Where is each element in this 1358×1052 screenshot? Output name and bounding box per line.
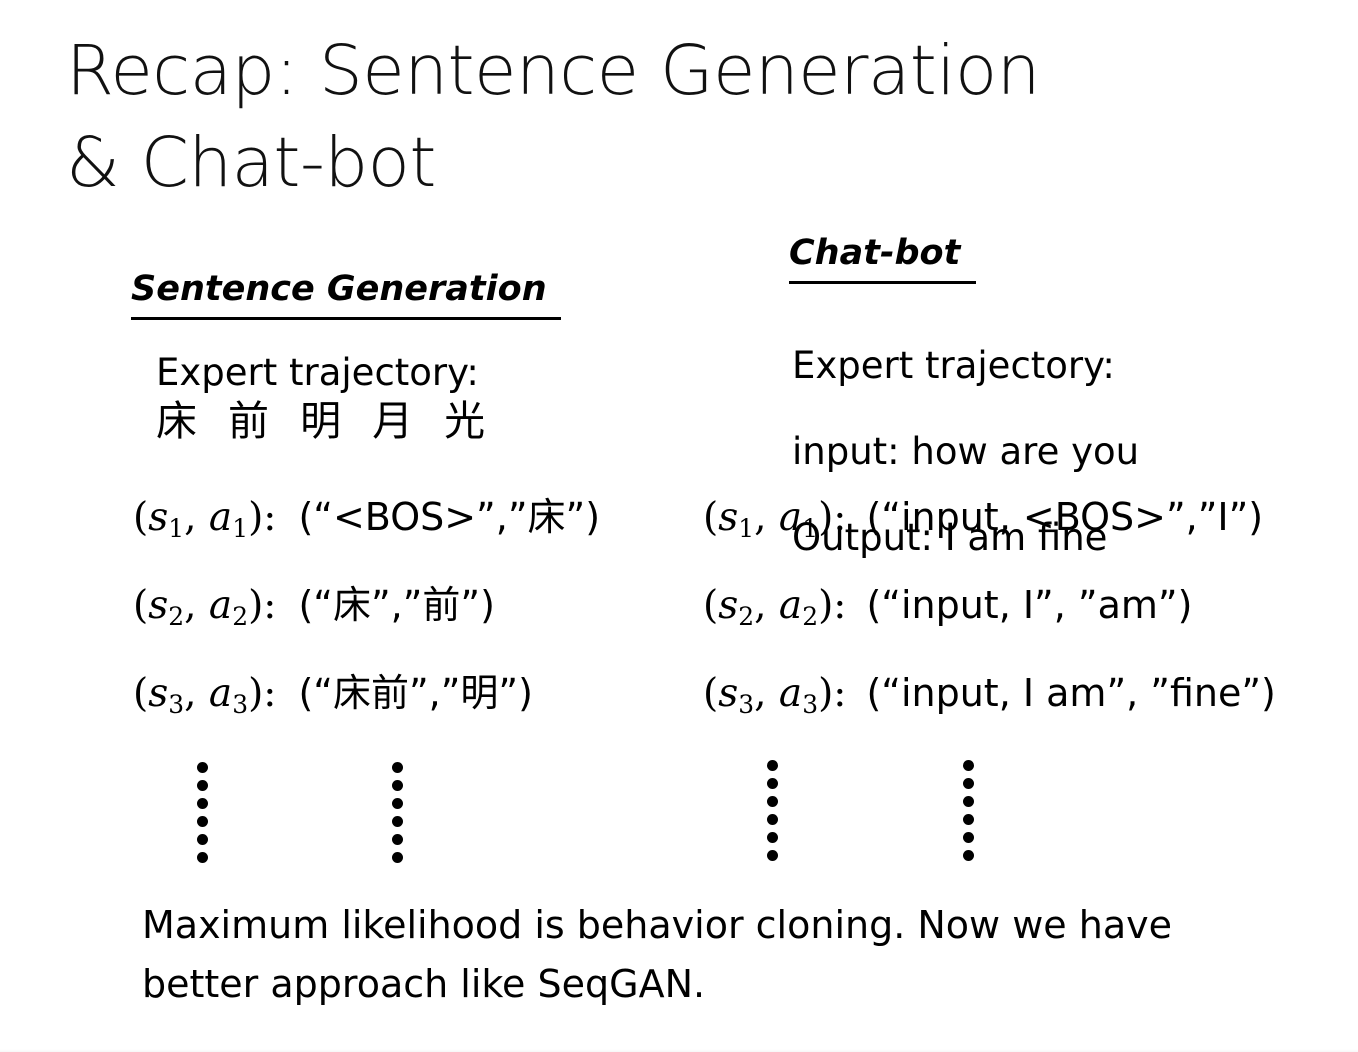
left-expert-trajectory-label: Expert trajectory: [156,352,479,395]
right-state-action-label-1: (s1, a1): [703,498,846,537]
table-row: (s1, a1): (“input, <BOS>”,”I”) [703,498,1276,586]
table-row: (s2, a2): (“床”,”前”) [133,586,600,674]
left-state-action-list: (s1, a1): (“<BOS>”,”床”) (s2, a2): (“床”,”… [133,498,600,762]
page-title: Recap: Sentence Generation & Chat-bot [66,26,1246,210]
right-value-vertical-ellipsis-icon [963,760,974,861]
left-state-action-label-2: (s2, a2): [133,586,276,625]
section-header-chat-bot: Chat-bot [789,236,976,284]
right-state-action-value-2: (“input, I”, ”am”) [866,586,1192,624]
right-expert-trajectory-label: Expert trajectory: [792,345,1139,388]
left-state-action-value-2: (“床”,”前”) [298,586,494,624]
right-action-subscript-3: 3 [802,690,818,719]
left-state-action-value-3: (“床前”,”明”) [298,674,532,712]
right-state-action-label-3: (s3, a3): [703,674,846,713]
left-action-subscript-2: 2 [232,602,248,631]
left-state-subscript-1: 1 [168,514,184,543]
right-state-subscript-1: 1 [738,514,754,543]
left-label-vertical-ellipsis-icon [197,762,208,863]
table-row: (s2, a2): (“input, I”, ”am”) [703,586,1276,674]
right-state-action-value-1: (“input, <BOS>”,”I”) [866,498,1263,536]
right-state-action-label-2: (s2, a2): [703,586,846,625]
table-row: (s3, a3): (“input, I am”, ”fine”) [703,674,1276,762]
right-state-subscript-2: 2 [738,602,754,631]
left-state-action-label-1: (s1, a1): [133,498,276,537]
table-row: (s1, a1): (“<BOS>”,”床”) [133,498,600,586]
right-state-subscript-3: 3 [738,690,754,719]
left-value-vertical-ellipsis-icon [392,762,403,863]
right-trajectory-input: input: how are you [792,431,1139,474]
right-label-vertical-ellipsis-icon [767,760,778,861]
table-row: (s3, a3): (“床前”,”明”) [133,674,600,762]
left-action-subscript-3: 3 [232,690,248,719]
right-action-subscript-1: 1 [802,514,818,543]
right-action-subscript-2: 2 [802,602,818,631]
slide-canvas: Recap: Sentence Generation & Chat-bot Se… [0,0,1358,1052]
right-state-action-value-3: (“input, I am”, ”fine”) [866,674,1275,712]
footer-note: Maximum likelihood is behavior cloning. … [142,896,1262,1014]
left-state-subscript-3: 3 [168,690,184,719]
right-state-action-list: (s1, a1): (“input, <BOS>”,”I”) (s2, a2):… [703,498,1276,762]
left-state-action-value-1: (“<BOS>”,”床”) [298,498,600,536]
left-action-subscript-1: 1 [232,514,248,543]
left-state-action-label-3: (s3, a3): [133,674,276,713]
left-expert-trajectory-value: 床 前 明 月 光 [156,398,494,446]
left-state-subscript-2: 2 [168,602,184,631]
section-header-sentence-generation: Sentence Generation [131,272,561,320]
